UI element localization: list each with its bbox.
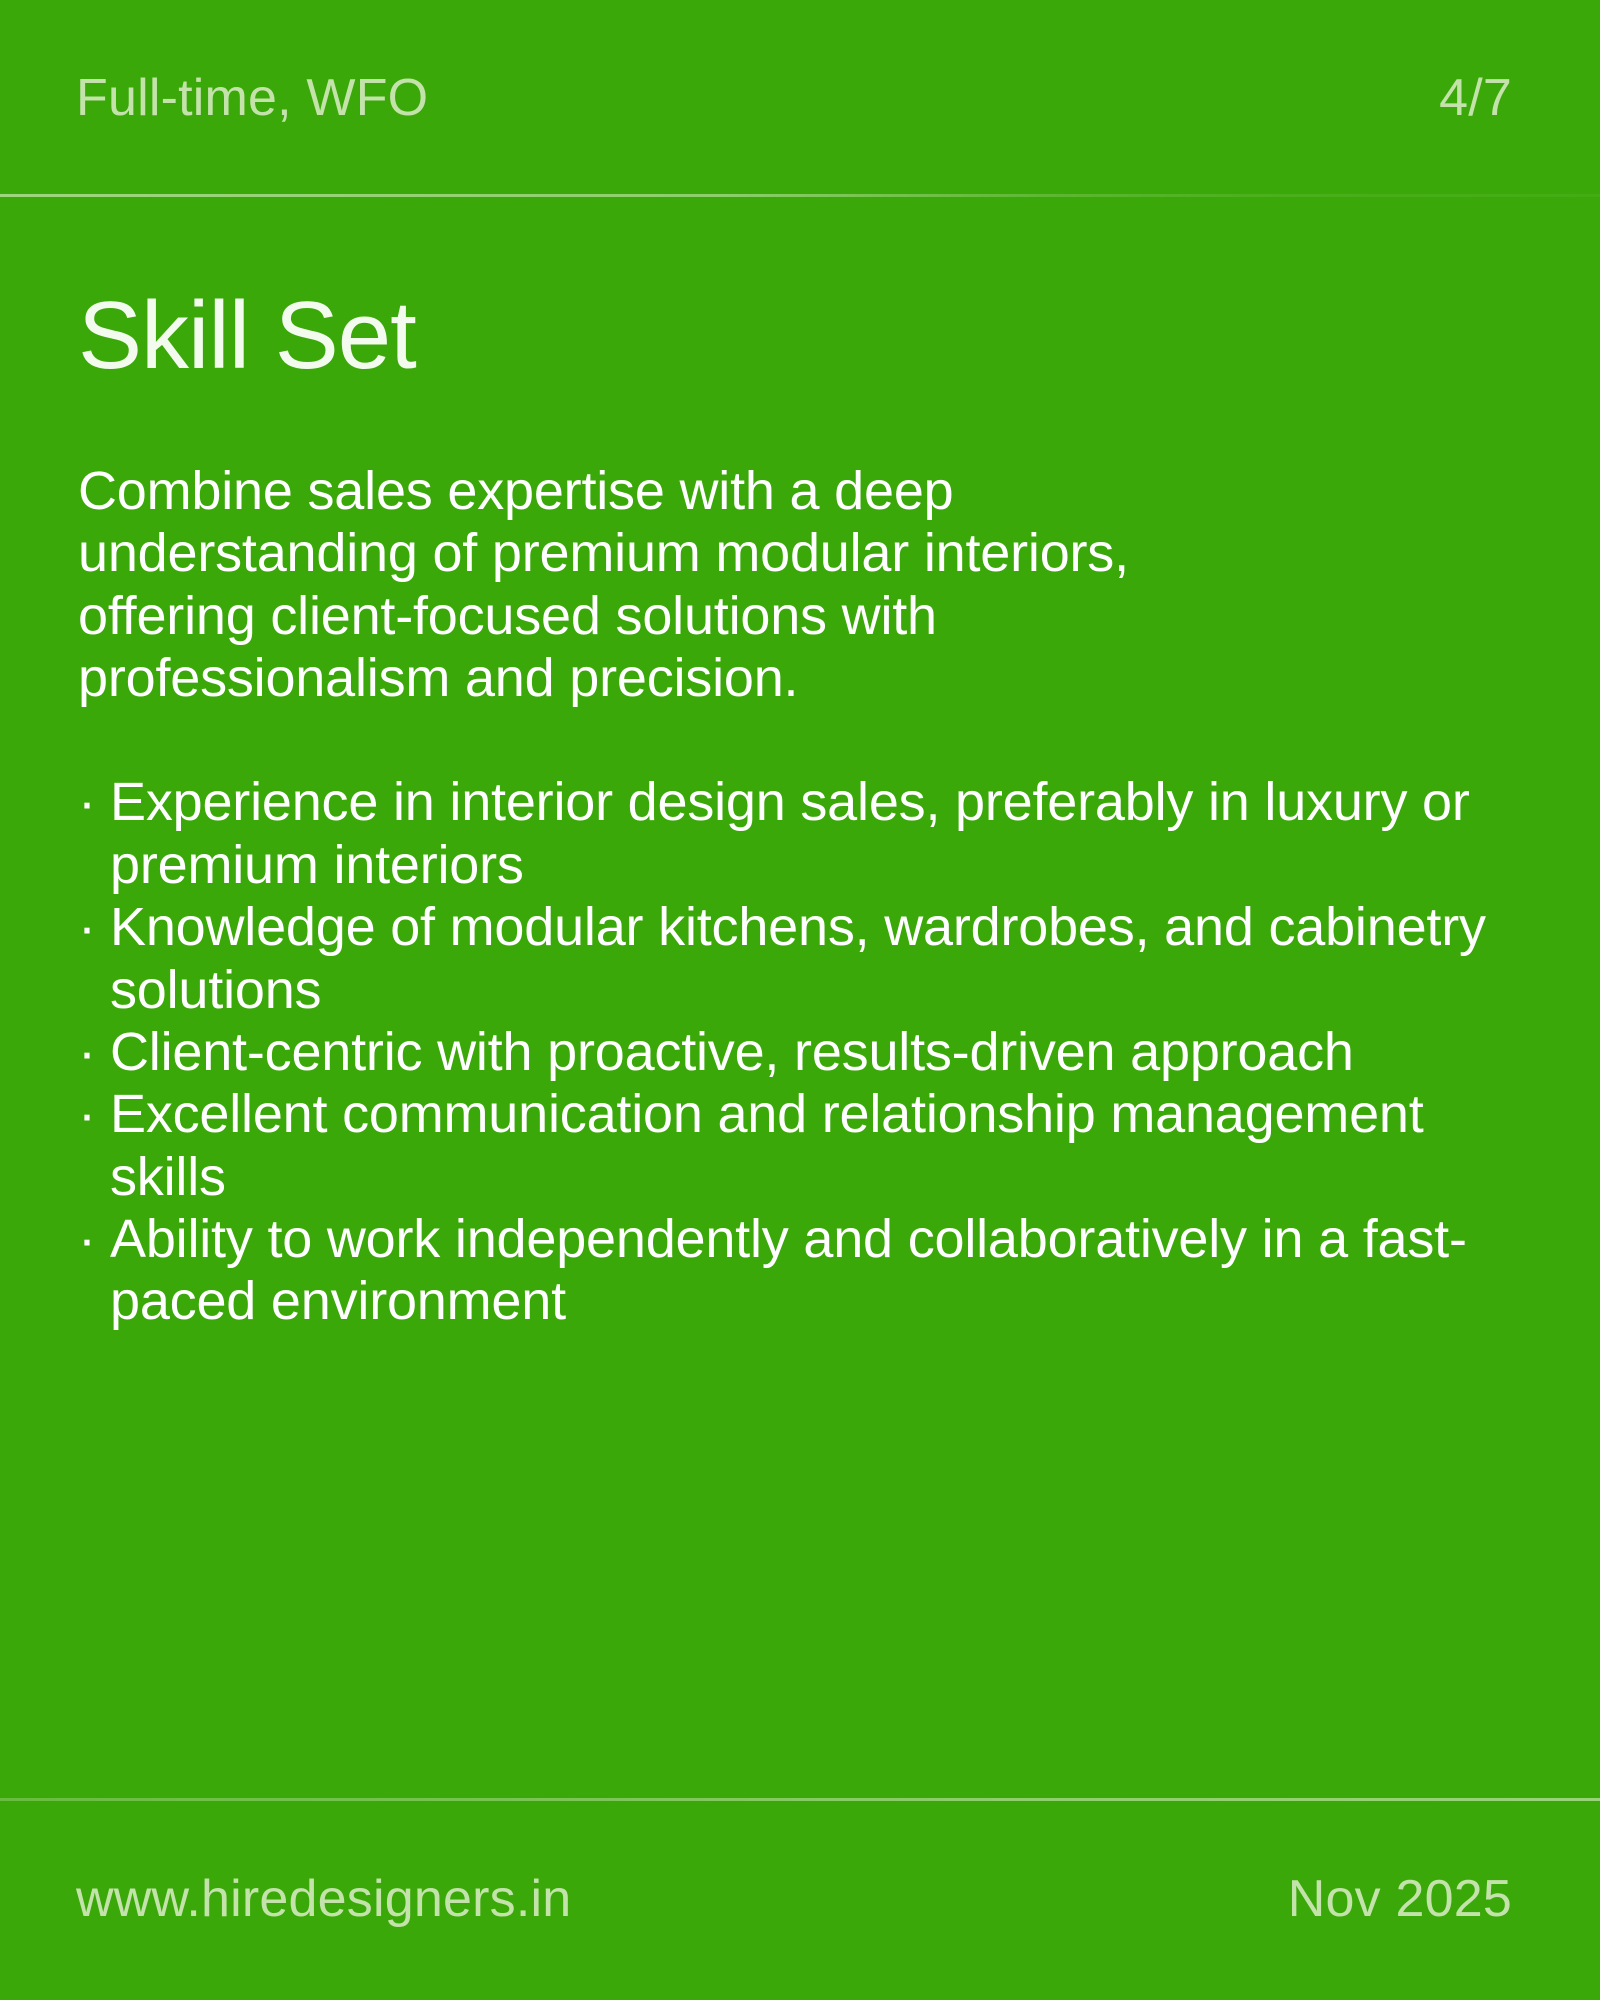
website-url[interactable]: www.hiredesigners.in	[76, 1873, 571, 1925]
employment-type-label: Full-time, WFO	[76, 72, 428, 124]
page-title: Skill Set	[78, 288, 1524, 384]
list-item: · Client-centric with proactive, results…	[76, 1021, 1524, 1083]
list-item: · Excellent communication and relationsh…	[76, 1083, 1524, 1208]
list-item: · Knowledge of modular kitchens, wardrob…	[76, 896, 1524, 1021]
slide-footer: www.hiredesigners.in Nov 2025	[0, 1798, 1600, 2000]
list-item: · Ability to work independently and coll…	[76, 1208, 1524, 1333]
page-indicator: 4/7	[1439, 72, 1512, 124]
posting-date: Nov 2025	[1288, 1873, 1512, 1925]
bullet-dot-icon: ·	[78, 1021, 96, 1083]
skill-requirements-list: · Experience in interior design sales, p…	[76, 771, 1524, 1332]
slide-header: Full-time, WFO 4/7	[0, 0, 1600, 196]
list-item-label: Ability to work independently and collab…	[110, 1209, 1467, 1331]
job-posting-slide: Full-time, WFO 4/7 Skill Set Combine sal…	[0, 0, 1600, 2000]
bullet-dot-icon: ·	[78, 896, 96, 958]
list-item-label: Excellent communication and relationship…	[110, 1084, 1424, 1206]
intro-paragraph: Combine sales expertise with a deep unde…	[78, 460, 1178, 709]
list-item: · Experience in interior design sales, p…	[76, 771, 1524, 896]
list-item-label: Client-centric with proactive, results-d…	[110, 1022, 1354, 1082]
bullet-dot-icon: ·	[78, 1083, 96, 1145]
list-item-label: Knowledge of modular kitchens, wardrobes…	[110, 897, 1486, 1019]
bullet-dot-icon: ·	[78, 771, 96, 833]
slide-body: Skill Set Combine sales expertise with a…	[0, 196, 1600, 1798]
header-divider	[0, 194, 1600, 197]
bullet-dot-icon: ·	[78, 1208, 96, 1270]
list-item-label: Experience in interior design sales, pre…	[110, 772, 1470, 894]
